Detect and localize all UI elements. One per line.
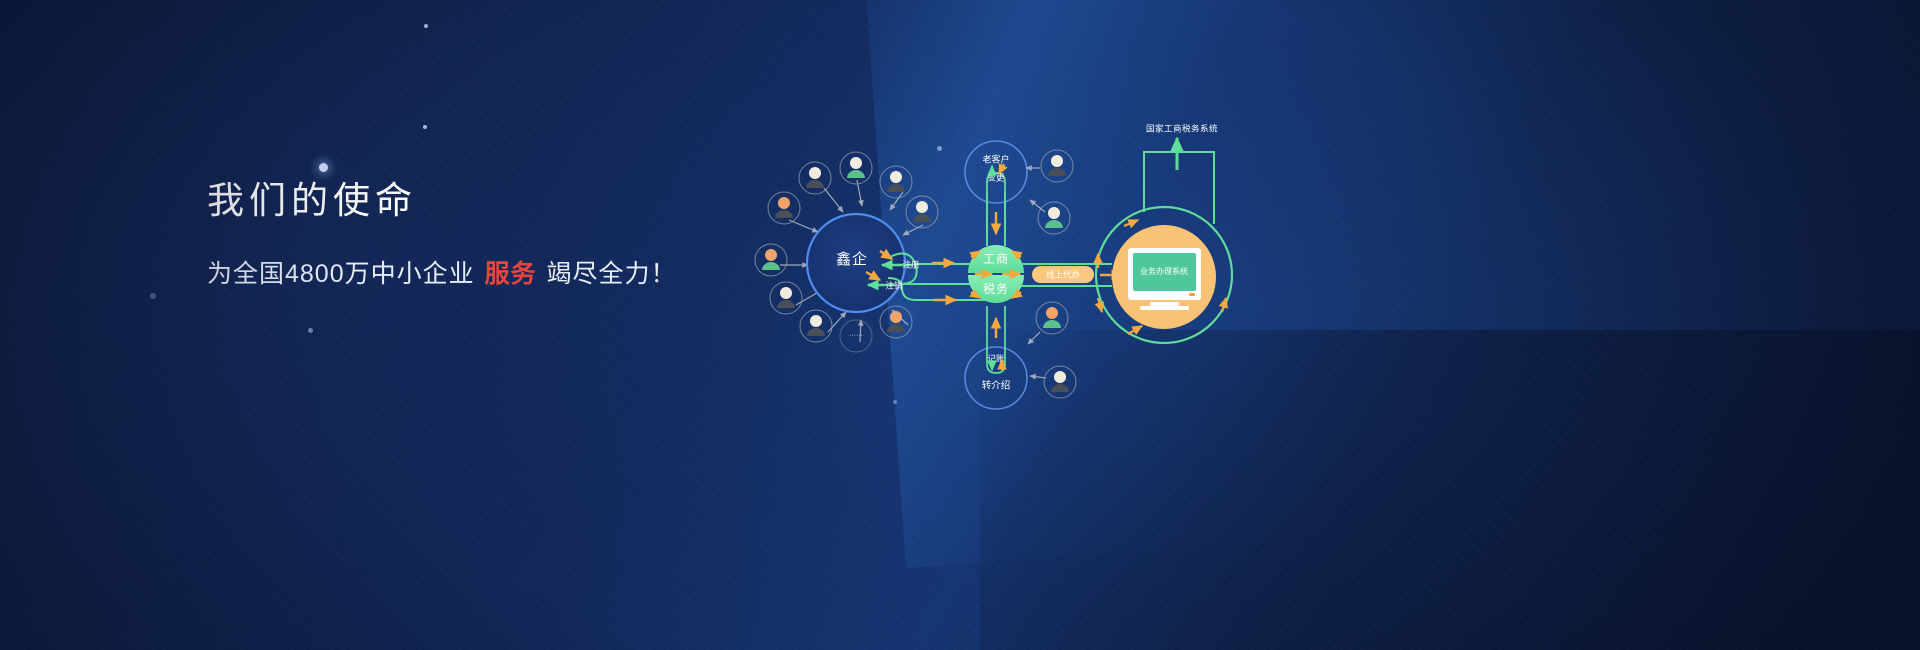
avatar [906,196,938,228]
referral-node[interactable]: 转介绍 记账 [965,302,1076,409]
existing-customer-node[interactable]: 老客户 变更 [965,141,1073,246]
flow-label-change: 变更 [987,172,1005,182]
client-hub-label: 鑫企 [836,250,868,268]
avatar-more-indicator: ······ [840,320,872,352]
existing-customer-label: 老客户 [982,153,1009,164]
avatar [1036,302,1068,334]
core-bottom-label: 税务 [983,281,1009,296]
service-flow-diagram: ······ 鑫企 注册 [740,120,1280,420]
avatar [770,282,802,314]
avatar [799,162,831,194]
decor-dot-4 [150,293,156,299]
client-hub[interactable]: 鑫企 [807,214,905,312]
subtitle-highlight: 服务 [483,260,539,288]
online-agent-flow[interactable]: 线上代办 [1021,264,1122,286]
avatar [880,166,912,198]
referral-label: 转介绍 [982,380,1011,392]
hero-copy: 我们的使命 为全国4800万中小企业 服务 竭尽全力！ [207,178,677,290]
ellipsis-label: ······ [849,332,863,339]
decor-dot-2 [423,125,427,129]
avatar [755,244,787,276]
decor-dot-1 [424,24,428,28]
page-title: 我们的使命 [207,178,677,224]
core-top-label: 工商 [983,251,1009,266]
government-system[interactable]: 国家工商税务系统 业务办理系统 [1096,123,1232,343]
avatar [1044,366,1076,398]
avatar [1038,202,1070,234]
hero-banner: 我们的使命 为全国4800万中小企业 服务 竭尽全力！ [0,0,1920,650]
decor-dot-5 [308,328,313,333]
system-title: 国家工商税务系统 [1146,123,1218,133]
core-services[interactable]: 工商 税务 [962,245,1024,303]
decor-dot-3 [319,163,328,172]
subtitle-part-before: 为全国4800万中小企业 [207,260,483,288]
subtitle-part-after: 竭尽全力！ [539,260,677,288]
system-screen-label: 业务办理系统 [1140,266,1188,276]
avatar [840,152,872,184]
avatar [880,306,912,338]
avatar [768,192,800,224]
flow-label-deregister: 注销 [885,280,903,290]
avatar [1041,150,1073,182]
avatar [800,310,832,342]
online-agent-label: 线上代办 [1046,269,1081,279]
hero-subtitle: 为全国4800万中小企业 服务 竭尽全力！ [207,254,677,290]
